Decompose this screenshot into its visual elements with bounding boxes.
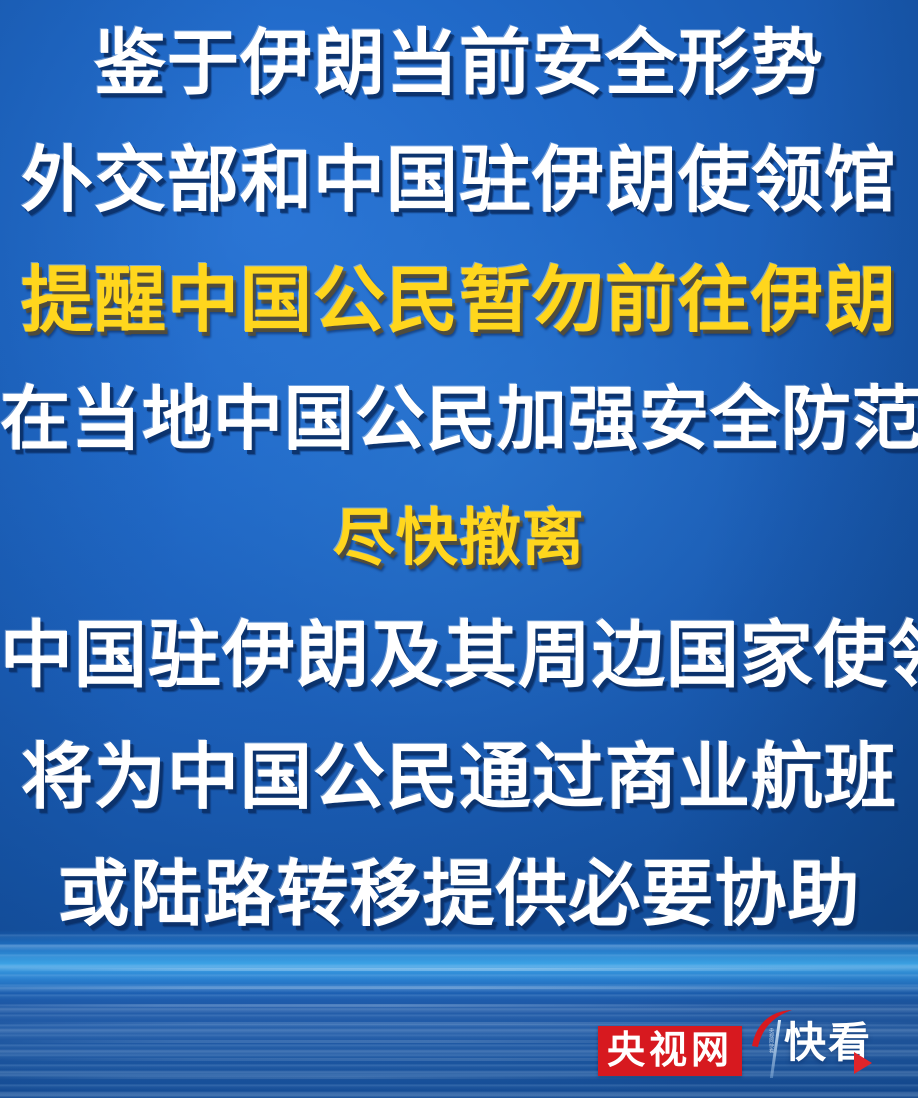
cctv-kuaikan-logo[interactable]: 央视网 央视网快看 快看 — [598, 1012, 898, 1084]
headline-line-2: 外交部和中国驻伊朗使领馆 — [0, 145, 918, 217]
headline-line-4-text: 在当地中国公民加强安全防范 — [0, 384, 918, 454]
headline-line-3-emphasis: 提醒中国公民暂勿前往伊朗 — [0, 265, 918, 337]
headline-line-3-text: 提醒中国公民暂勿前往伊朗 — [21, 265, 897, 337]
play-triangle-icon[interactable] — [854, 1052, 872, 1074]
cctv-badge[interactable]: 央视网 — [598, 1026, 742, 1076]
headline-line-1-text: 鉴于伊朗当前安全形势 — [94, 28, 824, 100]
headline-line-7: 将为中国公民通过商业航班 — [0, 742, 918, 814]
headline-line-6-text: 中国驻伊朗及其周边国家使领馆 — [0, 619, 918, 692]
news-graphic-card: 鉴于伊朗当前安全形势 外交部和中国驻伊朗使领馆 提醒中国公民暂勿前往伊朗 在当地… — [0, 0, 918, 1098]
headline-block: 鉴于伊朗当前安全形势 外交部和中国驻伊朗使领馆 提醒中国公民暂勿前往伊朗 在当地… — [0, 0, 918, 940]
headline-line-4: 在当地中国公民加强安全防范 — [0, 384, 918, 454]
headline-line-2-text: 外交部和中国驻伊朗使领馆 — [21, 145, 897, 217]
logo-microtext: 央视网快看 — [762, 1028, 774, 1072]
headline-line-6: 中国驻伊朗及其周边国家使领馆 — [0, 619, 918, 692]
headline-line-5-emphasis: 尽快撤离 — [0, 508, 918, 570]
headline-line-8: 或陆路转移提供必要协助 — [0, 859, 918, 931]
headline-line-7-text: 将为中国公民通过商业航班 — [21, 742, 897, 814]
headline-line-8-text: 或陆路转移提供必要协助 — [57, 859, 860, 931]
headline-line-1: 鉴于伊朗当前安全形势 — [0, 28, 918, 100]
headline-line-5-text: 尽快撤离 — [333, 508, 585, 570]
cctv-badge-text: 央视网 — [607, 1032, 733, 1070]
